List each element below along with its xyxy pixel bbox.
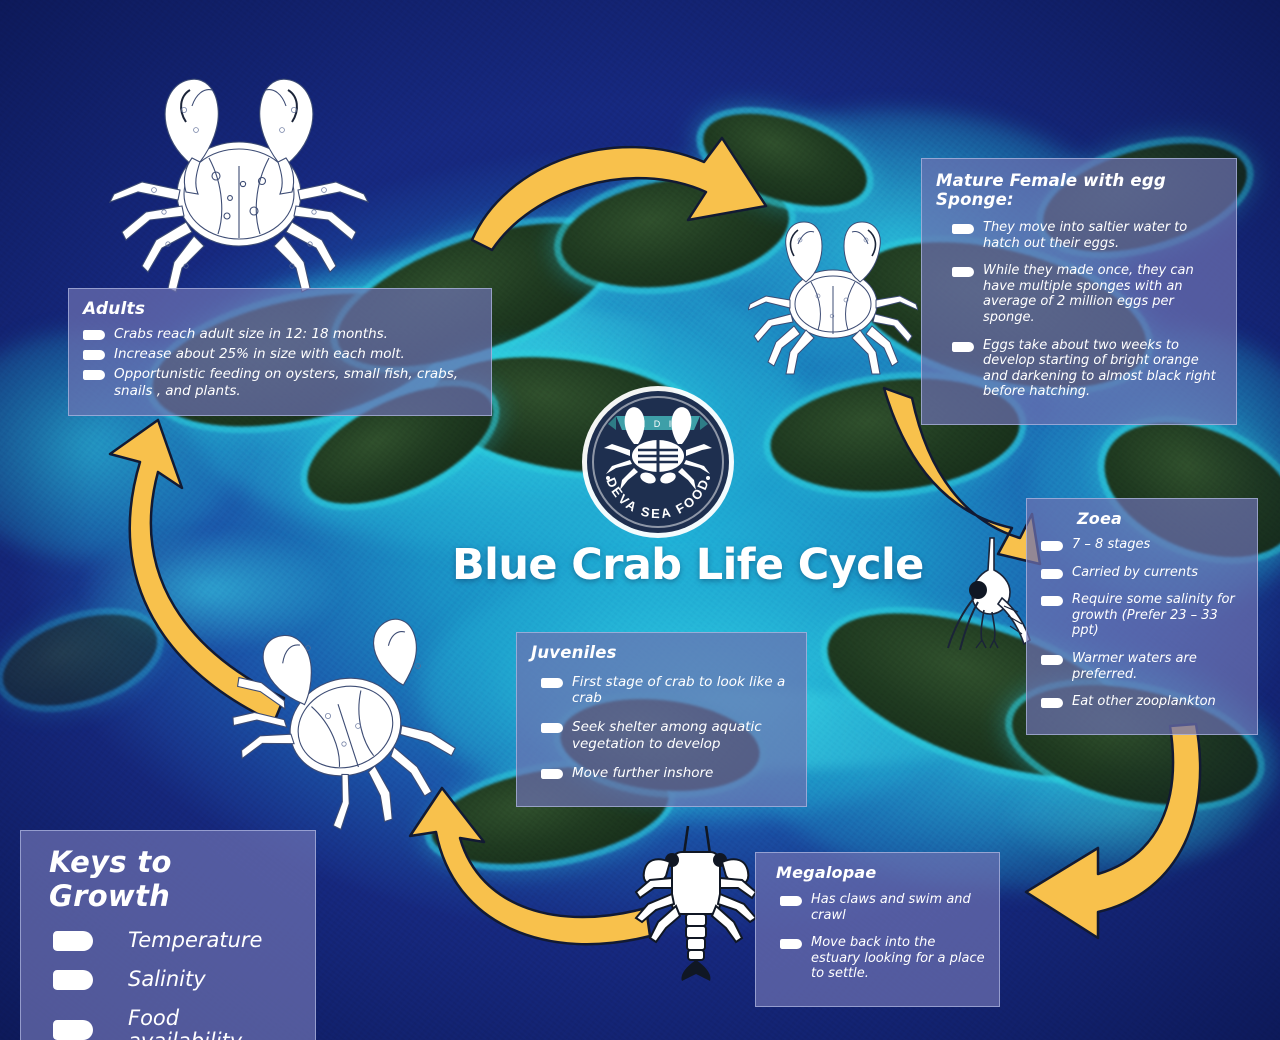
panel-mature-female-heading: Mature Female with egg Sponge:: [936, 171, 1222, 209]
bullet-pill-icon: [53, 931, 93, 951]
list-item: Seek shelter among aquatic vegetation to…: [531, 719, 792, 751]
panel-juveniles-heading: Juveniles: [531, 643, 792, 662]
bullet-text: Seek shelter among aquatic vegetation to…: [572, 719, 792, 751]
bullet-pill-icon: [541, 769, 563, 779]
bullet-text: Eat other zooplankton: [1072, 694, 1216, 710]
page-title: Blue Crab Life Cycle: [452, 540, 924, 590]
list-item: Crabs reach adult size in 12: 18 months.: [83, 326, 477, 342]
bullet-text: Temperature: [128, 929, 262, 952]
panel-adults-bullets: Crabs reach adult size in 12: 18 months.…: [83, 326, 477, 399]
bullet-pill-icon: [53, 1020, 93, 1040]
bullet-pill-icon: [83, 370, 105, 380]
panel-juveniles: Juveniles First stage of crab to look li…: [516, 632, 807, 807]
bullet-text: Opportunistic feeding on oysters, small …: [114, 366, 477, 398]
list-item: Salinity: [39, 968, 297, 991]
panel-adults: Adults Crabs reach adult size in 12: 18 …: [68, 288, 492, 416]
bullet-text: Warmer waters are preferred.: [1072, 651, 1243, 682]
panel-keys-to-growth: Keys to Growth Temperature Salinity Food…: [20, 830, 316, 1040]
bullet-text: Crabs reach adult size in 12: 18 months.: [114, 326, 388, 342]
panel-mature-female: Mature Female with egg Sponge: They move…: [921, 158, 1237, 425]
bullet-pill-icon: [1041, 569, 1063, 579]
bullet-pill-icon: [1041, 698, 1063, 708]
bullet-pill-icon: [1041, 541, 1063, 551]
list-item: Move back into the estuary looking for a…: [770, 935, 985, 982]
bullet-text: Eggs take about two weeks to develop sta…: [983, 338, 1222, 400]
list-item: While they made once, they can have mult…: [936, 263, 1222, 325]
bullet-pill-icon: [780, 896, 802, 906]
panel-keys-to-growth-heading: Keys to Growth: [49, 845, 297, 913]
bullet-text: Require some salinity for growth (Prefer…: [1072, 592, 1243, 639]
list-item: Carried by currents: [1041, 565, 1243, 581]
bullet-pill-icon: [1041, 655, 1063, 665]
bullet-pill-icon: [541, 678, 563, 688]
panel-megalopae-heading: Megalopae: [776, 863, 985, 882]
list-item: 7 – 8 stages: [1041, 537, 1243, 553]
mature-female-crab-illustration: [748, 218, 918, 376]
bullet-pill-icon: [952, 342, 974, 352]
bullet-pill-icon: [1041, 596, 1063, 606]
bullet-pill-icon: [541, 723, 563, 733]
bullet-pill-icon: [83, 350, 105, 360]
panel-zoea-heading: Zoea: [1077, 509, 1243, 528]
bullet-text: First stage of crab to look like a crab: [572, 674, 792, 706]
panel-megalopae: Megalopae Has claws and swim and crawl M…: [755, 852, 1000, 1007]
bullet-text: Carried by currents: [1072, 565, 1198, 581]
list-item: Require some salinity for growth (Prefer…: [1041, 592, 1243, 639]
megalopa-illustration: [628, 818, 764, 982]
bullet-pill-icon: [952, 224, 974, 234]
list-item: Eat other zooplankton: [1041, 694, 1243, 710]
list-item: Opportunistic feeding on oysters, small …: [83, 366, 477, 398]
bullet-text: Has claws and swim and crawl: [811, 892, 985, 923]
panel-mature-female-bullets: They move into saltier water to hatch ou…: [936, 220, 1222, 400]
list-item: They move into saltier water to hatch ou…: [936, 220, 1222, 251]
list-item: Move further inshore: [531, 765, 792, 781]
panel-adults-heading: Adults: [83, 299, 477, 319]
bullet-text: 7 – 8 stages: [1072, 537, 1150, 553]
bullet-text: They move into saltier water to hatch ou…: [983, 220, 1222, 251]
bullet-pill-icon: [53, 970, 93, 990]
deva-sea-food-logo[interactable]: I N D I A DEVA SEA FOOD: [578, 382, 738, 542]
arrow-zoea-to-megalopae: [1006, 716, 1230, 942]
list-item: Has claws and swim and crawl: [770, 892, 985, 923]
bullet-pill-icon: [83, 330, 105, 340]
panel-juveniles-bullets: First stage of crab to look like a crab …: [531, 674, 792, 781]
bullet-text: Food availability: [128, 1007, 297, 1040]
infographic-canvas: I N D I A DEVA SEA FOOD Blue Crab Life C…: [0, 0, 1280, 1040]
bullet-text: Move further inshore: [572, 765, 713, 781]
list-item: Increase about 25% in size with each mol…: [83, 346, 477, 362]
bullet-text: Salinity: [128, 968, 206, 991]
list-item: Warmer waters are preferred.: [1041, 651, 1243, 682]
bullet-pill-icon: [952, 267, 974, 277]
list-item: Food availability: [39, 1007, 297, 1040]
bullet-text: While they made once, they can have mult…: [983, 263, 1222, 325]
list-item: Eggs take about two weeks to develop sta…: [936, 338, 1222, 400]
adult-crab-illustration: [108, 66, 370, 306]
bullet-text: Increase about 25% in size with each mol…: [114, 346, 405, 362]
panel-megalopae-bullets: Has claws and swim and crawl Move back i…: [770, 892, 985, 982]
juvenile-crab-illustration: [232, 608, 464, 836]
panel-zoea-bullets: 7 – 8 stages Carried by currents Require…: [1041, 537, 1243, 710]
panel-keys-to-growth-bullets: Temperature Salinity Food availability: [39, 929, 297, 1040]
panel-zoea: Zoea 7 – 8 stages Carried by currents Re…: [1026, 498, 1258, 735]
list-item: Temperature: [39, 929, 297, 952]
bullet-pill-icon: [780, 939, 802, 949]
bullet-text: Move back into the estuary looking for a…: [811, 935, 985, 982]
list-item: First stage of crab to look like a crab: [531, 674, 792, 706]
